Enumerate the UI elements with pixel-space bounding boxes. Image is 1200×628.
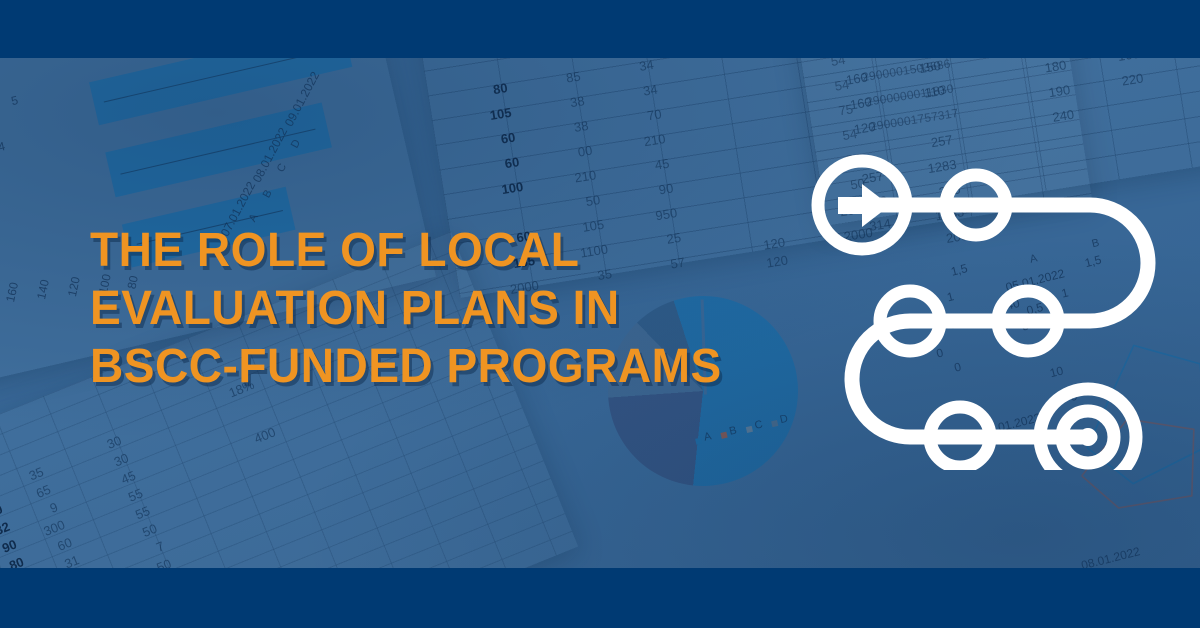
top-navy-band: [0, 0, 1200, 58]
title-line-2: Evaluation Plans in: [90, 280, 762, 338]
arrow-right-icon: [838, 184, 890, 227]
banner-canvas: 5 4 3 2 1 160 140 120 100 80 09.01.2022 …: [0, 0, 1200, 628]
title-line-3: BSCC-Funded Programs: [90, 338, 762, 396]
title-line-1: The Role of Local: [90, 222, 762, 280]
page-title: The Role of Local Evaluation Plans in BS…: [90, 222, 762, 396]
process-flow-graphic: [800, 140, 1200, 470]
process-flow-svg: [800, 140, 1200, 470]
bottom-navy-band: [0, 568, 1200, 628]
